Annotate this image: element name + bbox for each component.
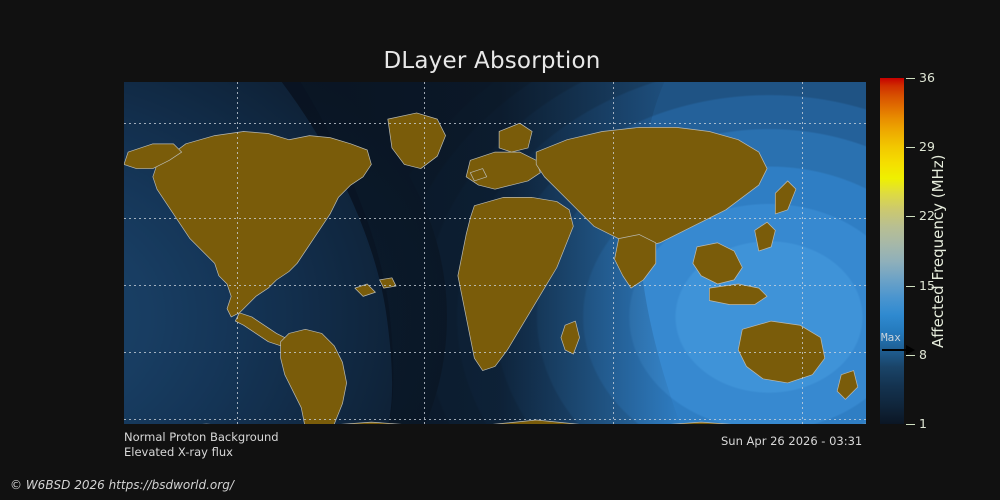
- gridline-lon-0: [613, 82, 614, 424]
- max-arrow-icon: [882, 344, 916, 356]
- app-root: DLayer Absorption: [0, 0, 1000, 500]
- colorbar[interactable]: 36 29 22 15 8 1: [880, 78, 904, 424]
- colorbar-tick-15: [906, 286, 915, 287]
- gridline-lat-60n: [124, 123, 866, 124]
- gridline-lat-30s: [124, 352, 866, 353]
- gridline-lat-30n: [124, 218, 866, 219]
- colorbar-tick-36: [906, 78, 915, 79]
- max-marker-label: Max: [881, 331, 901, 344]
- gridline-lon-60e: [802, 82, 803, 424]
- page-title: DLayer Absorption: [0, 48, 992, 74]
- gridline-lat-0: [124, 285, 866, 286]
- colorbar-gradient: [880, 78, 904, 424]
- gridline-lon-120w: [237, 82, 238, 424]
- colorbar-axis-label: Affected Frequency (MHz): [929, 78, 947, 424]
- colorbar-tick-22: [906, 216, 915, 217]
- world-map[interactable]: [124, 82, 866, 424]
- colorbar-label-1: 1: [919, 416, 927, 431]
- continents-layer: [124, 82, 866, 424]
- proton-status-text: Normal Proton Background: [124, 430, 279, 444]
- timestamp-text: Sun Apr 26 2026 - 03:31: [721, 434, 862, 448]
- xray-status-text: Elevated X-ray flux: [124, 445, 233, 459]
- gridline-lon-60w: [424, 82, 425, 424]
- copyright-text: © W6BSD 2026 https://bsdworld.org/: [10, 478, 234, 492]
- colorbar-tick-29: [906, 147, 915, 148]
- gridline-lat-60s: [124, 419, 866, 420]
- colorbar-tick-1: [906, 424, 915, 425]
